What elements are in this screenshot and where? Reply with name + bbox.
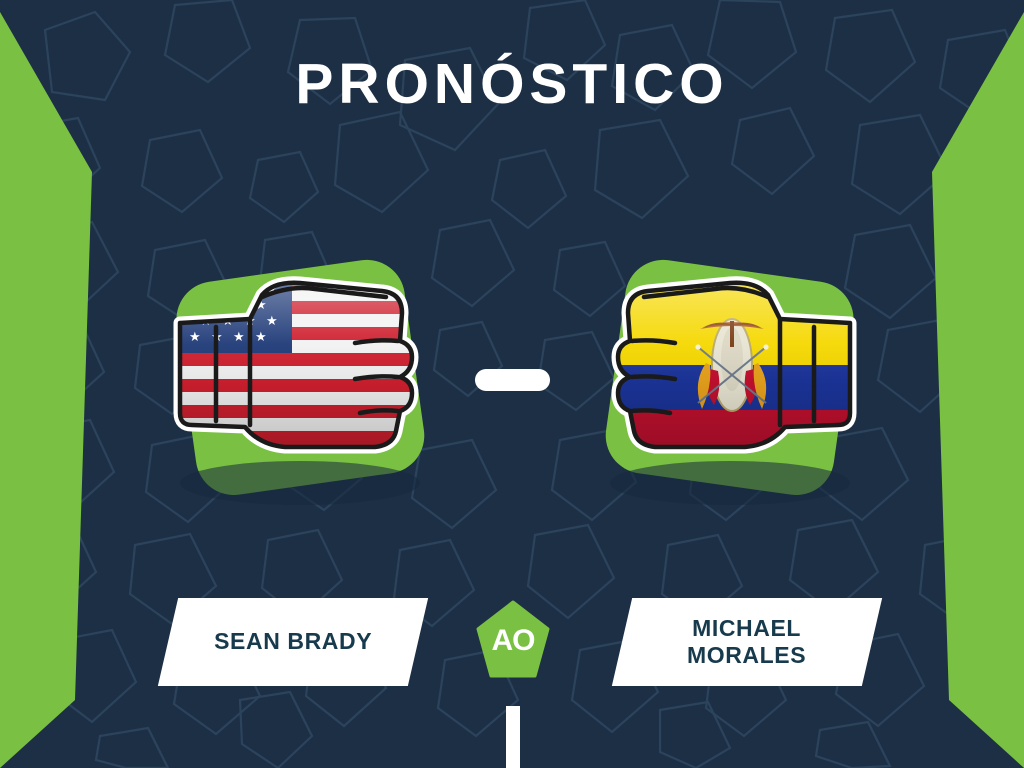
right-fighter-name: MICHAEL MORALES xyxy=(687,615,806,669)
ao-logo-text: AO xyxy=(476,600,550,680)
left-fighter-name-banner[interactable]: SEAN BRADY xyxy=(158,598,428,686)
left-green-wedge xyxy=(0,0,140,768)
ecuador-flag-fist-icon xyxy=(580,235,880,525)
versus-dash-separator xyxy=(475,369,550,391)
ao-logo-badge[interactable]: AO xyxy=(476,600,550,680)
left-fighter-name: SEAN BRADY xyxy=(214,628,372,655)
right-fighter-name-banner[interactable]: MICHAEL MORALES xyxy=(612,598,882,686)
usa-flag-fist-icon: ★★★ ★★ ★★★ ★ ★★★ ★★ ★★★ ★ xyxy=(150,235,450,525)
prediction-graphic: PRONÓSTICO xyxy=(0,0,1024,768)
page-title: PRONÓSTICO xyxy=(0,56,1024,113)
right-green-wedge xyxy=(884,0,1024,768)
bottom-divider-bar xyxy=(506,706,520,768)
